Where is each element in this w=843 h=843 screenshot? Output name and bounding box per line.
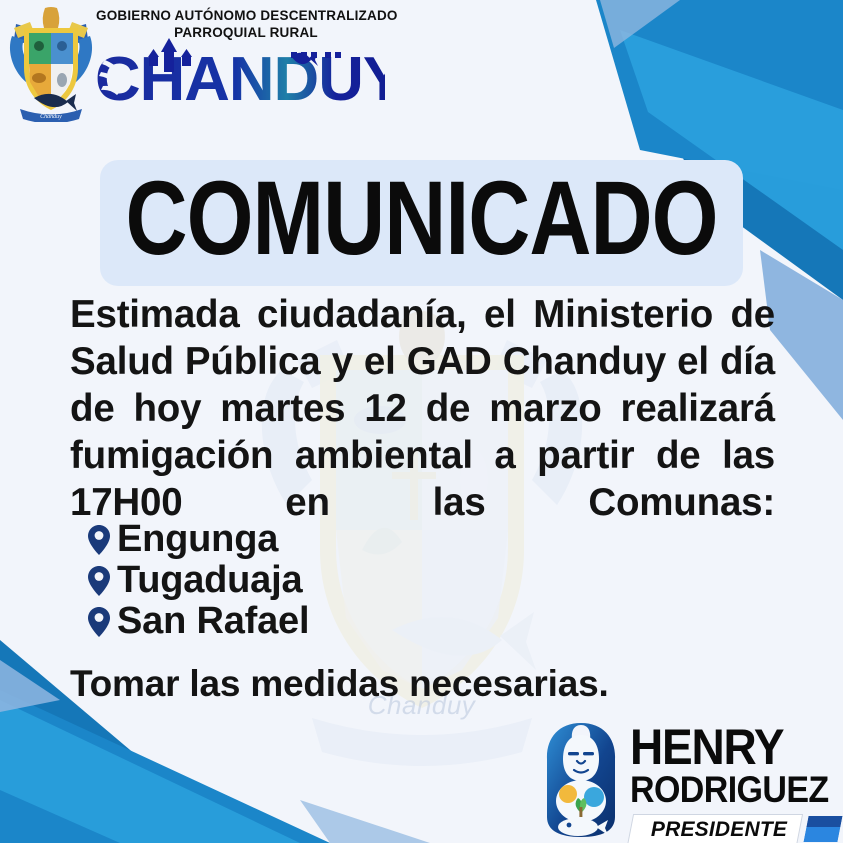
- role-badge-label: PRESIDENTE: [644, 818, 794, 842]
- page-title: COMUNICADO: [126, 166, 718, 273]
- deco-bottom-left-light: [0, 660, 60, 712]
- poster-header: Chanduy GOBIERNO AUTÓNOMO DESCENTRALIZAD…: [0, 0, 843, 128]
- badge-flag-icon: [803, 816, 842, 842]
- comunicado-poster: Chanduy: [0, 0, 843, 843]
- map-pin-icon: [88, 566, 110, 596]
- deco-bottom-left-mid: [0, 700, 300, 843]
- svg-text:Chanduy: Chanduy: [40, 114, 62, 120]
- list-item: Tugaduaja: [88, 560, 688, 601]
- list-item: San Rafael: [88, 601, 688, 642]
- list-item: Engunga: [88, 519, 688, 560]
- title-highlight-box: COMUNICADO: [100, 160, 744, 286]
- comuna-name: Engunga: [117, 518, 278, 561]
- comuna-list: Engunga Tugaduaja San Rafael: [88, 519, 688, 642]
- comuna-name: Tugaduaja: [117, 559, 302, 602]
- chanduy-coat-of-arms-icon: Chanduy: [8, 6, 94, 122]
- comuna-name: San Rafael: [117, 600, 309, 643]
- map-pin-icon: [88, 607, 110, 637]
- president-last-name: RODRIGUEZ: [630, 771, 840, 808]
- signature-block: HENRY RODRIGUEZ PRESIDENTE: [536, 721, 836, 839]
- title-section: COMUNICADO: [0, 160, 843, 286]
- map-pin-icon: [88, 525, 110, 555]
- henry-rodriguez-figure-logo-icon: [536, 721, 626, 839]
- header-text-block: GOBIERNO AUTÓNOMO DESCENTRALIZADO PARROQ…: [96, 8, 396, 40]
- chanduy-wordmark-icon: CHANDUY: [95, 38, 385, 110]
- signature-names: HENRY RODRIGUEZ PRESIDENTE: [630, 723, 840, 843]
- svg-text:CHANDUY: CHANDUY: [95, 45, 385, 110]
- gov-line-1: GOBIERNO AUTÓNOMO DESCENTRALIZADO: [96, 8, 396, 23]
- deco-bottom-left-dark: [0, 690, 330, 843]
- president-first-name: HENRY: [630, 723, 840, 771]
- role-badge: PRESIDENTE: [630, 814, 838, 843]
- deco-bottom-left-pale: [300, 800, 430, 843]
- closing-text: Tomar las medidas necesarias.: [70, 663, 609, 705]
